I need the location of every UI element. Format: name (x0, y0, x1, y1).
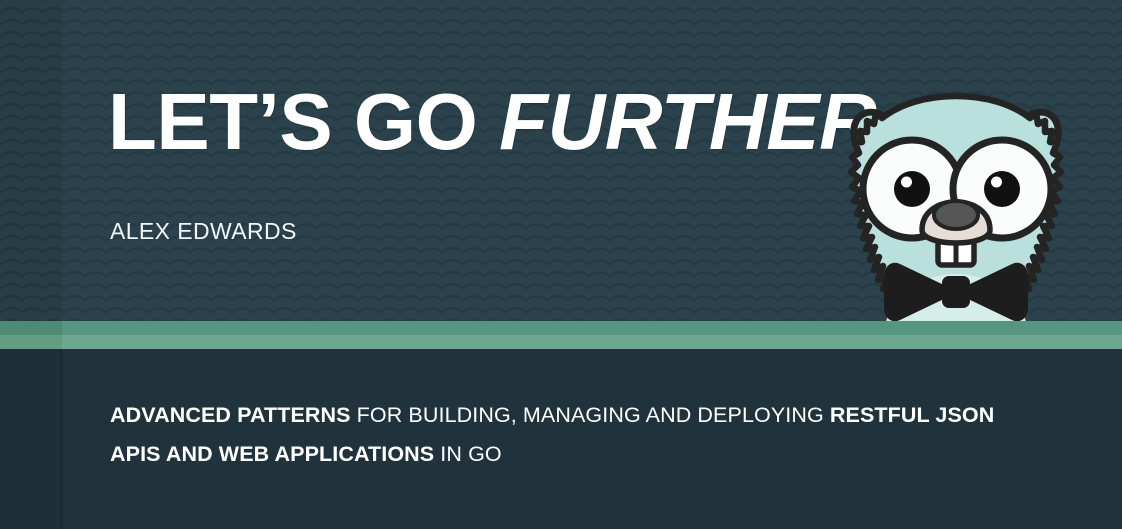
accent-band-light-green (0, 335, 1122, 349)
book-subtitle-segment: IN GO (434, 442, 502, 466)
cover-spine-edge-line (60, 349, 63, 529)
book-subtitle-segment: FOR BUILDING, MANAGING AND DEPLOYING (351, 403, 830, 427)
book-subtitle: ADVANCED PATTERNS FOR BUILDING, MANAGING… (110, 396, 1010, 474)
book-author: ALEX EDWARDS (110, 218, 297, 245)
book-cover: LET’S GO FURTHER ALEX EDWARDS (0, 0, 1122, 529)
book-subtitle-segment: ADVANCED PATTERNS (110, 403, 351, 427)
accent-band-spine-light (0, 335, 62, 349)
accent-band-spine-dark (0, 321, 62, 335)
book-title-primary: LET’S GO (108, 77, 499, 166)
accent-band-dark-green (0, 321, 1122, 335)
cover-spine-shade-top (0, 0, 62, 321)
go-gopher-icon (836, 86, 1076, 349)
book-title: LET’S GO FURTHER (108, 82, 876, 162)
cover-spine-shade-bottom (0, 349, 62, 529)
book-title-emphasis: FURTHER (499, 77, 876, 166)
